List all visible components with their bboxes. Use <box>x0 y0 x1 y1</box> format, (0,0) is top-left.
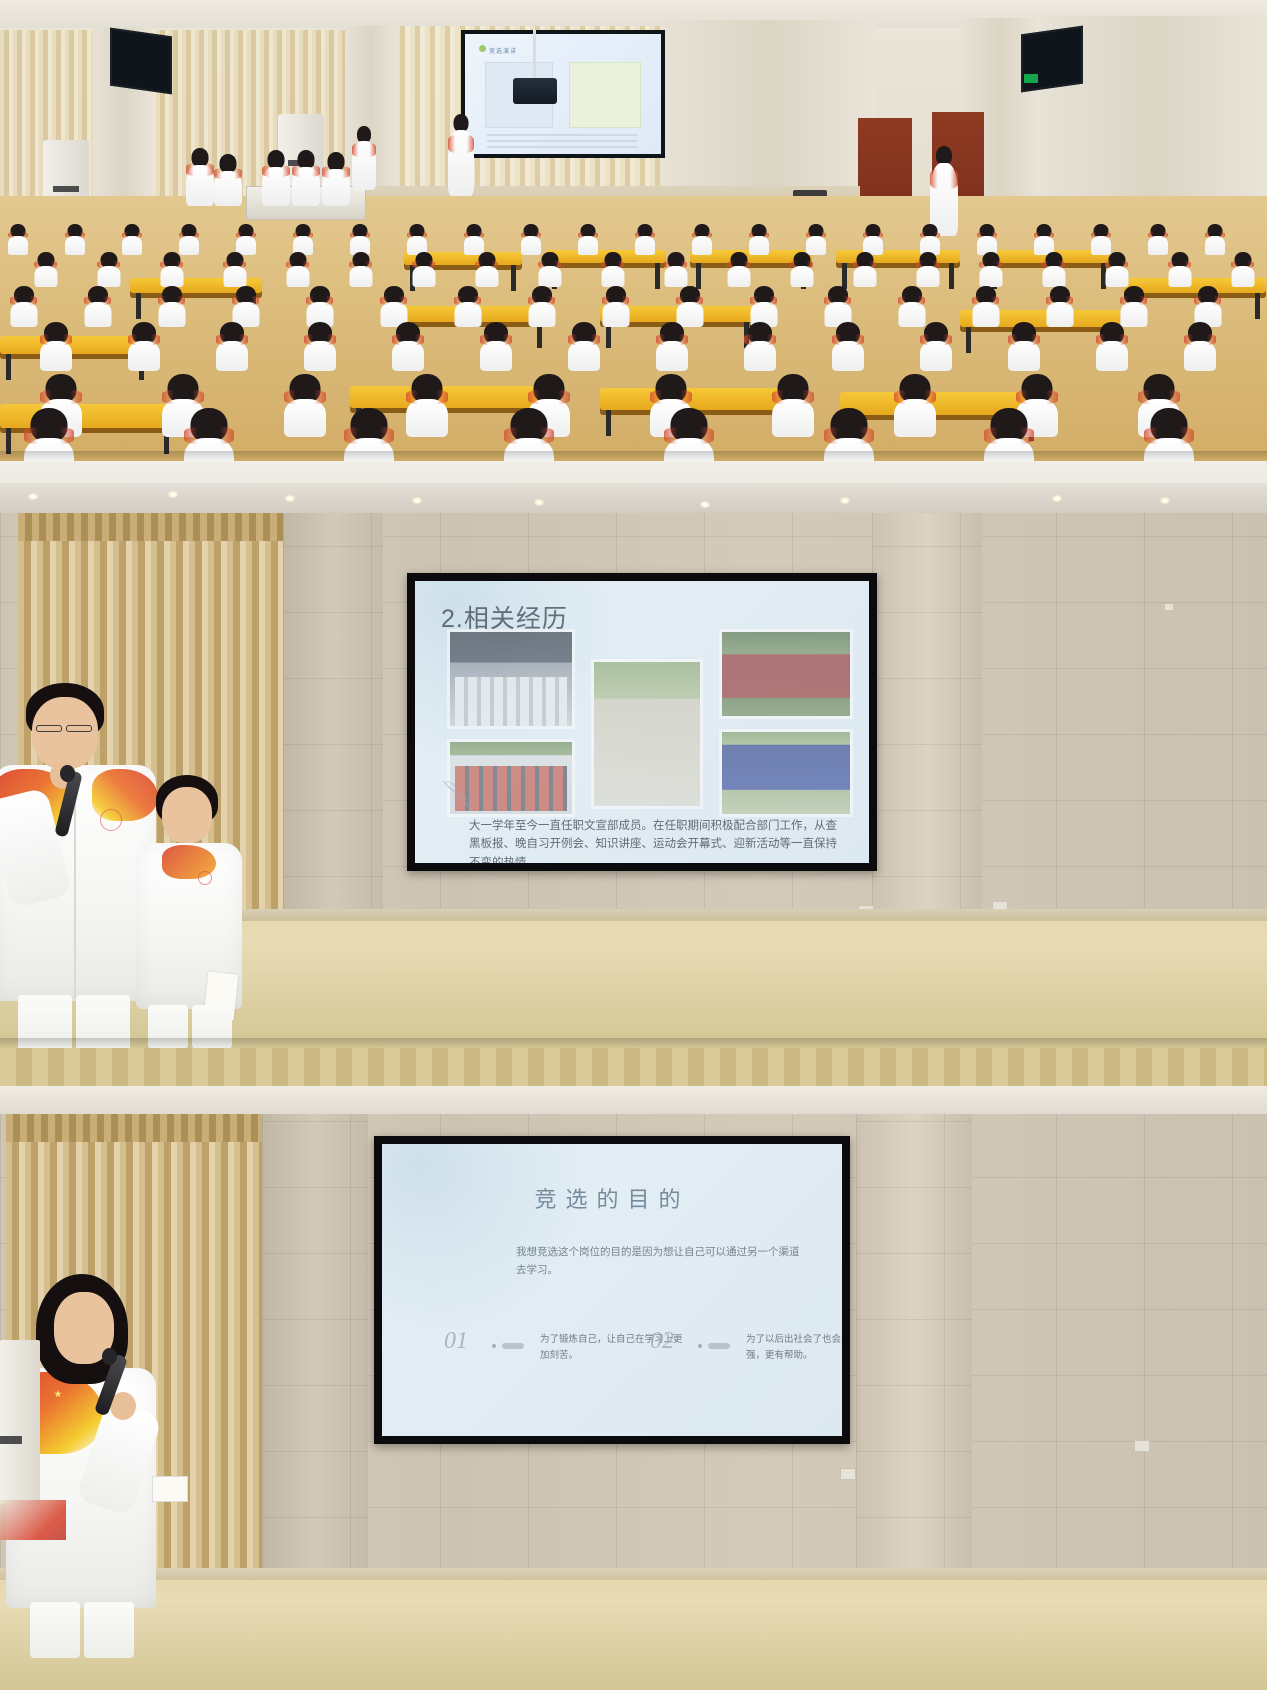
audience-member <box>521 224 541 254</box>
torso <box>84 302 111 327</box>
wall-socket[interactable] <box>1134 1440 1150 1452</box>
torso <box>1008 341 1040 371</box>
audience-member <box>853 252 876 286</box>
uniform-shoulder-stripe <box>1231 261 1254 268</box>
uniform-shoulder-stripe <box>406 390 448 404</box>
photo-collage: 竞选演讲 <box>0 0 1267 1690</box>
point-number: 01 <box>444 1328 468 1355</box>
seated-person <box>292 150 320 206</box>
uniform-shoulder-stripe <box>162 390 204 404</box>
audience-member <box>65 224 85 254</box>
slide-text-lines <box>487 134 637 152</box>
audience-member <box>1148 224 1168 254</box>
slide-title: 竞选演讲 <box>489 46 517 55</box>
torso <box>772 399 814 437</box>
school-badge <box>100 809 122 831</box>
uniform-shoulder-stripe <box>380 296 407 305</box>
uniform-shoulder-stripe <box>977 232 997 239</box>
uniform-shoulder-stripe <box>578 232 598 239</box>
uniform-shoulder-stripe <box>236 232 256 239</box>
audience-member <box>1034 224 1054 254</box>
uniform-shoulder-stripe <box>216 334 248 345</box>
torso <box>528 302 555 327</box>
audience-member <box>475 252 498 286</box>
slide-photo-handover <box>591 659 703 809</box>
uniform-shoulder-stripe <box>790 261 813 268</box>
audience-member <box>158 286 185 326</box>
audience-member <box>407 224 427 254</box>
wall-socket[interactable] <box>1164 603 1174 611</box>
uniform-shoulder-stripe <box>727 261 750 268</box>
downlight <box>534 499 544 506</box>
audience-member <box>772 374 814 436</box>
uniform-shoulder-stripe <box>223 261 246 268</box>
bullet-dash <box>708 1343 730 1349</box>
audience-member <box>454 286 481 326</box>
uniform-shoulder-stripe <box>744 334 776 345</box>
torso <box>972 302 999 327</box>
audience-member <box>664 252 687 286</box>
uniform-shoulder-stripe <box>920 232 940 239</box>
torso <box>284 399 326 437</box>
uniform-shoulder-stripe <box>601 261 624 268</box>
person-standing <box>352 126 376 190</box>
torso <box>635 236 655 255</box>
audience-member <box>920 224 940 254</box>
uniform-shoulder-stripe <box>972 296 999 305</box>
audience-member <box>1184 322 1216 370</box>
pillar-left <box>283 513 383 943</box>
wall-socket[interactable] <box>840 1468 856 1480</box>
microphone-head <box>102 1348 117 1365</box>
torso <box>979 266 1002 287</box>
uniform-shoulder-stripe <box>128 334 160 345</box>
audience-member <box>40 322 72 370</box>
torso <box>158 302 185 327</box>
torso <box>8 236 28 255</box>
uniform-shoulder-stripe <box>504 427 554 443</box>
torso <box>664 266 687 287</box>
audience-member <box>676 286 703 326</box>
audience-member <box>528 286 555 326</box>
uniform-shoulder-stripe <box>40 334 72 345</box>
audience-member <box>1194 286 1221 326</box>
uniform-shoulder-stripe <box>894 390 936 404</box>
leaf-sprig-icon <box>439 777 479 817</box>
uniform-shoulder-stripe <box>158 296 185 305</box>
downlight <box>168 491 178 498</box>
pillar-right <box>872 513 982 943</box>
audience-member <box>744 322 776 370</box>
uniform-shoulder-stripe <box>464 232 484 239</box>
uniform-shoulder-stripe <box>184 427 234 443</box>
slide-surface: 竞选的目的 我想竞选这个岗位的目的是因为想让自己可以通过另一个渠道去学习。 01… <box>382 1144 842 1436</box>
slide-caption: 大一学年至今一直任职文宣部成员。在任职期间积极配合部门工作，从查黑板报、晚自习开… <box>469 817 847 863</box>
bullet-dot <box>698 1344 702 1348</box>
torso <box>790 266 813 287</box>
torso <box>286 266 309 287</box>
downlight <box>412 497 422 504</box>
uniform-shoulder-stripe <box>160 261 183 268</box>
uniform-shoulder-stripe <box>232 296 259 305</box>
downlight <box>1052 495 1062 502</box>
seated-person <box>322 152 350 206</box>
audience-member <box>1205 224 1225 254</box>
uniform-shoulder-stripe <box>650 390 692 404</box>
torso <box>1096 341 1128 371</box>
audience-member <box>128 322 160 370</box>
uniform-shoulder-stripe <box>898 296 925 305</box>
uniform-shoulder-stripe <box>84 296 111 305</box>
torso <box>392 341 424 371</box>
audience-member <box>972 286 999 326</box>
audience-member <box>349 252 372 286</box>
point-text: 为了以后出社会了也会变的更坚强，更有帮助。 <box>746 1332 842 1364</box>
uniform-shoulder-stripe <box>635 232 655 239</box>
panel-divider <box>0 1038 1267 1048</box>
uniform-shoulder-stripe <box>920 334 952 345</box>
torso <box>1046 302 1073 327</box>
torso <box>538 266 561 287</box>
presenter <box>448 114 474 196</box>
uniform-shoulder-stripe <box>10 296 37 305</box>
uniform-shoulder-stripe <box>750 296 777 305</box>
uniform-shoulder-stripe <box>664 261 687 268</box>
audience-member <box>602 286 629 326</box>
emergency-exit-sign <box>1024 74 1038 83</box>
uniform-shoulder-stripe <box>832 334 864 345</box>
torso <box>1148 236 1168 255</box>
audience-member <box>1120 286 1147 326</box>
uniform-shoulder-stripe <box>304 334 336 345</box>
audience-member <box>306 286 333 326</box>
ceiling-projector <box>513 78 557 104</box>
audience-member <box>179 224 199 254</box>
torso <box>160 266 183 287</box>
audience-member <box>977 224 997 254</box>
torso <box>749 236 769 255</box>
torso <box>475 266 498 287</box>
uniform-shoulder-stripe <box>1184 334 1216 345</box>
torso <box>122 236 142 255</box>
torso <box>34 266 57 287</box>
projection-screen: 竞选演讲 <box>461 30 665 158</box>
slide-surface: 竞选演讲 <box>465 34 661 154</box>
desk <box>600 388 800 410</box>
audience-member <box>8 224 28 254</box>
uniform-shoulder-stripe <box>284 390 326 404</box>
audience-member <box>894 374 936 436</box>
uniform-shoulder-stripe <box>538 261 561 268</box>
uniform-shoulder-stripe <box>1016 390 1058 404</box>
torso <box>412 266 435 287</box>
audience-member <box>97 252 120 286</box>
audience-member <box>223 252 246 286</box>
downlight <box>840 497 850 504</box>
uniform-shoulder-stripe <box>1091 232 1111 239</box>
uniform-shoulder-stripe <box>656 334 688 345</box>
audience-member <box>304 322 336 370</box>
audience-member <box>84 286 111 326</box>
uniform-shoulder-stripe <box>65 232 85 239</box>
audience-member <box>979 252 1002 286</box>
uniform-shoulder-stripe <box>344 427 394 443</box>
uniform-shoulder-stripe <box>34 261 57 268</box>
uniform-shoulder-stripe <box>407 232 427 239</box>
uniform-shoulder-stripe <box>664 427 714 443</box>
torso <box>40 341 72 371</box>
uniform-shoulder-stripe <box>1120 296 1147 305</box>
panel-male-speaker: 2.相关经历 <box>0 461 1267 1048</box>
uniform-shoulder-stripe <box>1008 334 1040 345</box>
uniform-shoulder-stripe <box>824 296 851 305</box>
audience-member <box>10 286 37 326</box>
downlight <box>700 501 710 508</box>
uniform-shoulder-stripe <box>306 296 333 305</box>
audience-member <box>293 224 313 254</box>
uniform-shoulder-stripe <box>528 296 555 305</box>
audience-member <box>412 252 435 286</box>
uniform-shoulder-stripe <box>24 427 74 443</box>
point-number: 02 <box>650 1328 674 1355</box>
torso <box>454 302 481 327</box>
torso <box>223 266 246 287</box>
torso <box>406 399 448 437</box>
audience-member <box>916 252 939 286</box>
audience-member <box>392 322 424 370</box>
uniform-shoulder-stripe <box>1148 232 1168 239</box>
uniform-shoulder-stripe <box>521 232 541 239</box>
uniform-shoulder-stripe <box>692 232 712 239</box>
audience-member <box>1096 322 1128 370</box>
uniform-shoulder-stripe <box>1046 296 1073 305</box>
audience-member <box>749 224 769 254</box>
uniform-shoulder-stripe <box>97 261 120 268</box>
curtain-valance <box>18 513 288 541</box>
audience-member <box>692 224 712 254</box>
downlight <box>28 493 38 500</box>
pillar-right <box>856 1114 972 1584</box>
panel-divider <box>0 451 1267 461</box>
uniform-shoulder-stripe <box>979 261 1002 268</box>
uniform-shoulder-stripe <box>286 261 309 268</box>
audience-member <box>1105 252 1128 286</box>
uniform-shoulder-stripe <box>40 390 82 404</box>
torso <box>349 266 372 287</box>
uniform-shoulder-stripe <box>293 232 313 239</box>
torso <box>920 341 952 371</box>
audience-member <box>568 322 600 370</box>
audience-member <box>480 322 512 370</box>
torso <box>853 266 876 287</box>
audience-member <box>406 374 448 436</box>
uniform-shoulder-stripe <box>568 334 600 345</box>
torso <box>128 341 160 371</box>
audience-member <box>160 252 183 286</box>
audience-member <box>1231 252 1254 286</box>
torso <box>304 341 336 371</box>
uniform-shoulder-stripe <box>1042 261 1065 268</box>
glasses-right-lens <box>66 725 92 732</box>
audience-member <box>216 322 248 370</box>
audience-member <box>727 252 750 286</box>
speaker-female-waiting <box>134 775 244 1048</box>
torso <box>692 236 712 255</box>
slide-photo-redwall <box>719 629 853 719</box>
decorative-banner <box>0 1500 66 1540</box>
slide-surface: 2.相关经历 <box>415 581 869 863</box>
trousers <box>84 1602 134 1658</box>
person-filming <box>930 146 958 236</box>
audience-member <box>286 252 309 286</box>
torso <box>894 399 936 437</box>
uniform-shoulder-stripe <box>1144 427 1194 443</box>
audience-member <box>350 224 370 254</box>
audience-member <box>863 224 883 254</box>
uniform-shoulder-stripe <box>1168 261 1191 268</box>
audience-member <box>1046 286 1073 326</box>
torso <box>1205 236 1225 255</box>
torso <box>916 266 939 287</box>
audience-member <box>34 252 57 286</box>
projection-screen: 竞选的目的 我想竞选这个岗位的目的是因为想让自己可以通过另一个渠道去学习。 01… <box>374 1136 850 1444</box>
bullet-dot <box>492 1344 496 1348</box>
torso <box>727 266 750 287</box>
audience-member <box>601 252 624 286</box>
audience-member <box>832 322 864 370</box>
torso <box>10 302 37 327</box>
seated-person <box>186 148 214 206</box>
uniform-shoulder-stripe <box>122 232 142 239</box>
audience-member <box>122 224 142 254</box>
torso <box>656 341 688 371</box>
uniform-shoulder-stripe <box>8 232 28 239</box>
leaf-icon <box>479 45 486 52</box>
audience-member <box>538 252 561 286</box>
pillar-left <box>262 1114 368 1584</box>
seated-person <box>262 150 290 206</box>
uniform-shoulder-stripe <box>1205 232 1225 239</box>
audience-member <box>1091 224 1111 254</box>
curtain-valance <box>6 1114 264 1142</box>
uniform-shoulder-stripe <box>1194 296 1221 305</box>
seated-person <box>214 154 242 206</box>
uniform-shoulder-stripe <box>480 334 512 345</box>
torso <box>65 236 85 255</box>
torso <box>1042 266 1065 287</box>
air-conditioner-vent <box>0 1436 22 1444</box>
torso <box>601 266 624 287</box>
audience-member <box>898 286 925 326</box>
panel-lecture-hall-wide: 竞选演讲 <box>0 0 1267 461</box>
audience-member <box>1008 322 1040 370</box>
uniform-shoulder-stripe <box>475 261 498 268</box>
uniform-shoulder-stripe <box>1105 261 1128 268</box>
uniform-shoulder-stripe <box>984 427 1034 443</box>
wall-tv-left <box>110 28 172 95</box>
audience-member <box>750 286 777 326</box>
bullet-dash <box>502 1343 524 1349</box>
slide-photo-bluebanner <box>719 729 853 817</box>
torso <box>1105 266 1128 287</box>
uniform-shoulder-stripe <box>392 334 424 345</box>
torso <box>1184 341 1216 371</box>
downlight <box>1160 497 1170 504</box>
uniform-shoulder-stripe <box>863 232 883 239</box>
torso <box>1168 266 1191 287</box>
audience-member <box>920 322 952 370</box>
uniform-shoulder-stripe <box>454 296 481 305</box>
audience-member <box>232 286 259 326</box>
torso <box>568 341 600 371</box>
audience-member <box>236 224 256 254</box>
uniform-shoulder-stripe <box>602 296 629 305</box>
uniform-shoulder-stripe <box>350 232 370 239</box>
uniform-shoulder-stripe <box>806 232 826 239</box>
uniform-shoulder-stripe <box>1138 390 1180 404</box>
uniform-shoulder-stripe <box>853 261 876 268</box>
glasses-left-lens <box>36 725 62 732</box>
audience-member <box>790 252 813 286</box>
audience-member <box>464 224 484 254</box>
torso <box>97 266 120 287</box>
audience-member <box>578 224 598 254</box>
ceiling-soffit <box>0 483 1267 517</box>
downlight <box>285 495 295 502</box>
audience-member <box>656 322 688 370</box>
torso <box>578 236 598 255</box>
face <box>32 697 98 769</box>
torso <box>744 341 776 371</box>
audience-member <box>284 374 326 436</box>
uniform-shoulder-stripe <box>179 232 199 239</box>
projection-screen: 2.相关经历 <box>407 573 877 871</box>
uniform-shoulder-stripe <box>528 390 570 404</box>
torso <box>480 341 512 371</box>
audience-member <box>806 224 826 254</box>
trousers <box>30 1602 80 1658</box>
school-badge <box>198 871 212 885</box>
uniform-shoulder-stripe <box>824 427 874 443</box>
audience-member <box>1168 252 1191 286</box>
torso <box>1231 266 1254 287</box>
torso <box>216 341 248 371</box>
audience-member <box>824 286 851 326</box>
slide-title: 竞选的目的 <box>382 1182 842 1214</box>
slide-content-box-right <box>569 62 641 128</box>
audience-member <box>635 224 655 254</box>
uniform-shoulder-stripe <box>916 261 939 268</box>
torso <box>602 302 629 327</box>
name-card <box>152 1476 188 1502</box>
uniform-shoulder-stripe <box>412 261 435 268</box>
slide-photo-group-indoor <box>447 629 575 729</box>
uniform-shoulder-stripe <box>676 296 703 305</box>
audience-member <box>380 286 407 326</box>
panel-female-speaker: 竞选的目的 我想竞选这个岗位的目的是因为想让自己可以通过另一个渠道去学习。 01… <box>0 1048 1267 1690</box>
slide-body-text: 我想竞选这个岗位的目的是因为想让自己可以通过另一个渠道去学习。 <box>516 1244 806 1280</box>
air-conditioner <box>0 1340 40 1504</box>
torso <box>832 341 864 371</box>
uniform-shoulder-stripe <box>1034 232 1054 239</box>
uniform-shoulder-stripe <box>772 390 814 404</box>
uniform-shoulder-stripe <box>349 261 372 268</box>
uniform-shoulder-stripe <box>1096 334 1128 345</box>
face <box>162 787 212 843</box>
microphone-head <box>60 765 75 782</box>
audience-member <box>1042 252 1065 286</box>
uniform-shoulder-stripe <box>749 232 769 239</box>
